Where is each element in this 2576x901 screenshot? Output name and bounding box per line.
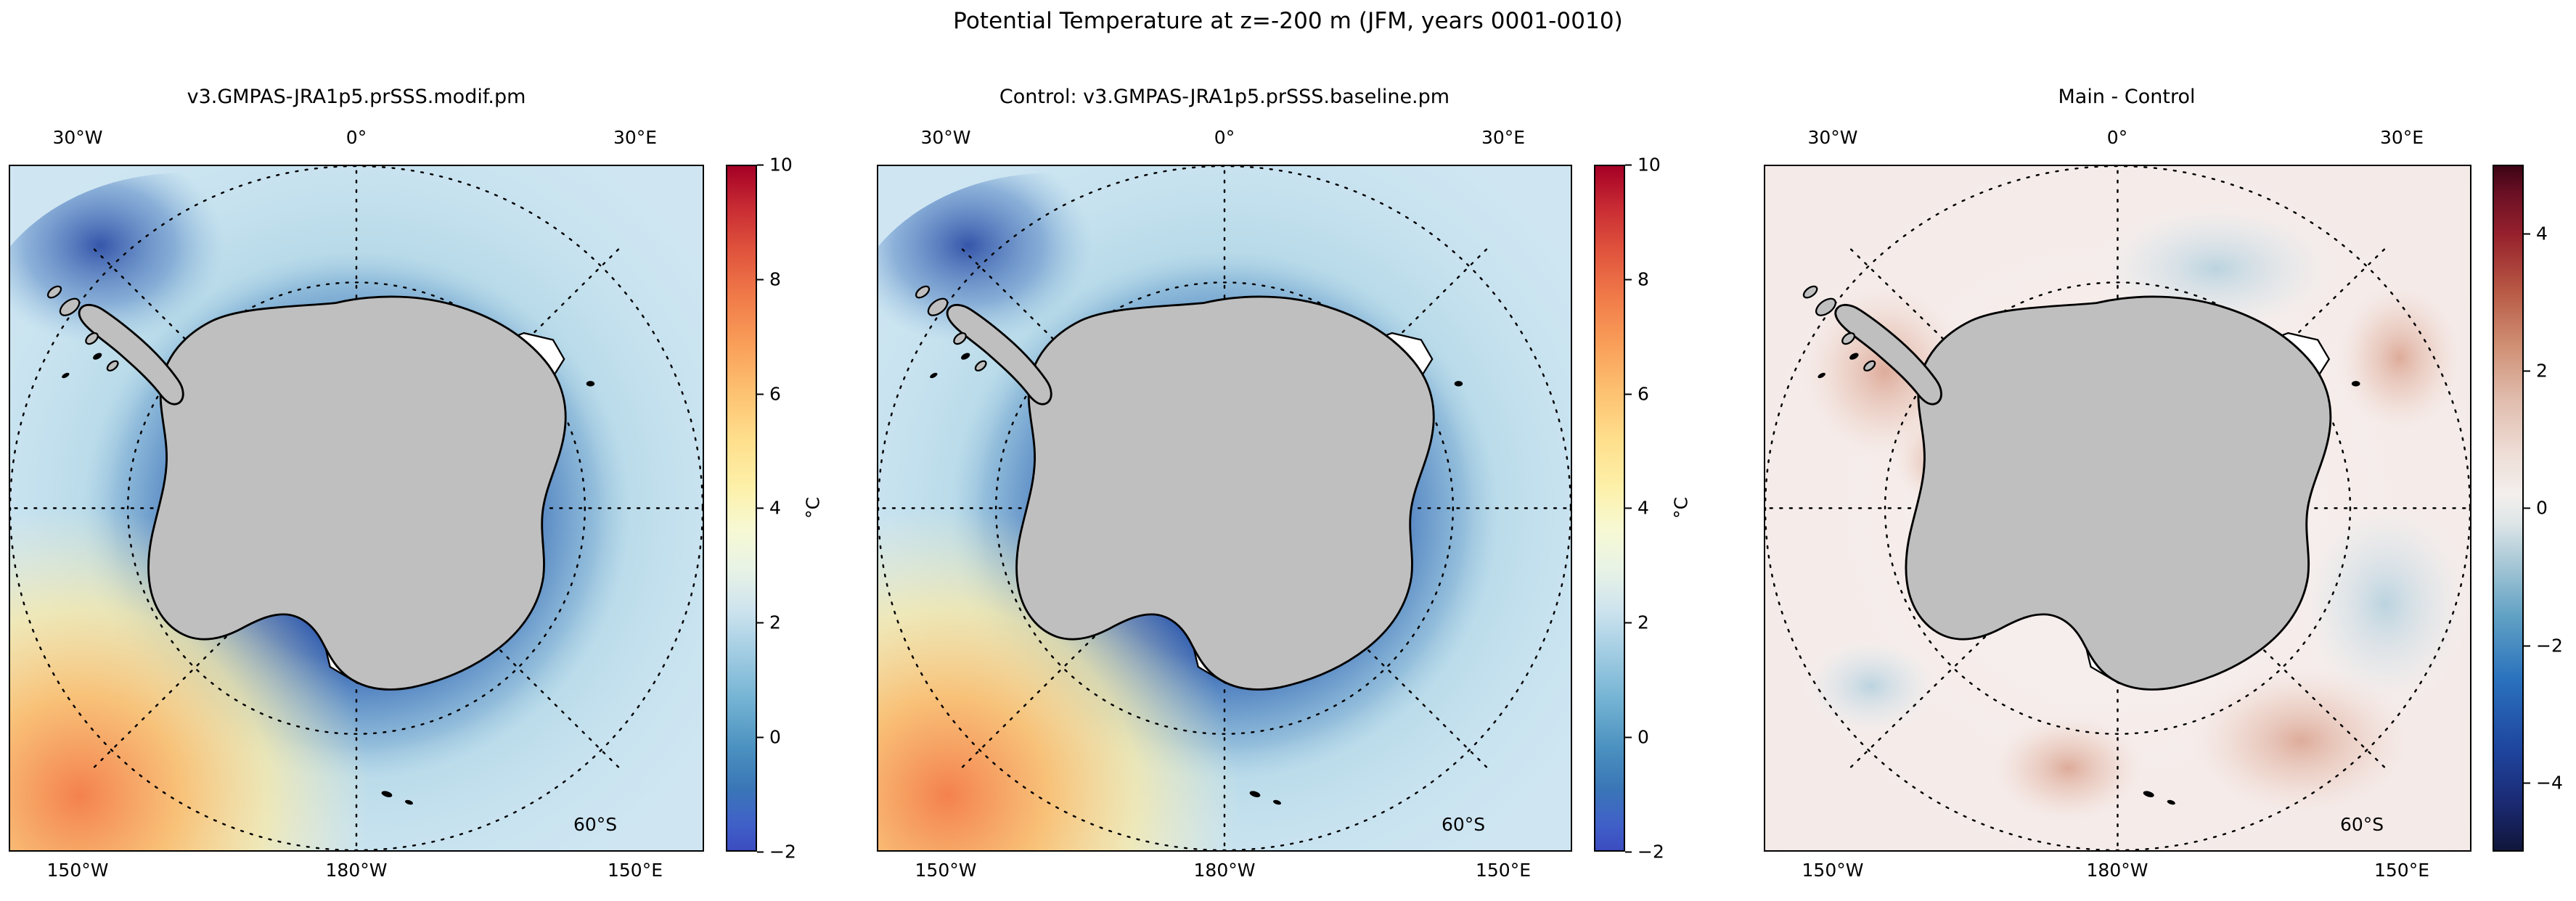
cbar-tick-main-0: 10 [757, 155, 793, 176]
tick-label: 6 [769, 384, 781, 405]
cbar-tick-control-1: 8 [1625, 269, 1649, 290]
antarctica-landmass [1906, 297, 2331, 690]
map-svg-control [878, 166, 1571, 850]
lon-label-top-30e: 30°E [566, 127, 704, 148]
cbar-tick-control-6: −2 [1625, 842, 1664, 863]
cool-anomaly-patch [1804, 638, 1937, 734]
tick-label: 8 [1637, 269, 1649, 290]
tick-mark [1625, 507, 1632, 509]
tick-mark [1625, 851, 1632, 852]
colorbar-unit-label-control: °C [1671, 497, 1692, 519]
cbar-tick-main-2: 6 [757, 384, 781, 405]
lon-label-bottom-150e: 150°E [2333, 860, 2471, 881]
map-canvas-difference[interactable] [1764, 165, 2471, 852]
lon-label-bottom-180w: 180°W [1156, 860, 1293, 881]
antarctica-landmass [1016, 297, 1434, 690]
tick-label: 4 [2536, 223, 2548, 244]
tick-mark [1625, 393, 1632, 395]
tick-mark [757, 507, 764, 509]
tick-label: 10 [1637, 155, 1661, 176]
tick-mark [757, 736, 764, 738]
tick-label: 2 [769, 612, 781, 633]
tick-mark [757, 164, 764, 165]
lat-label-60s-main: 60°S [573, 814, 617, 835]
tick-label: 2 [1637, 612, 1649, 633]
panel-title-main: v3.GMPAS-JRA1p5.prSSS.modif.pm [0, 86, 713, 108]
tick-label: −2 [769, 842, 796, 863]
colorbar-gradient-control [1594, 165, 1625, 852]
tick-label: 4 [769, 498, 781, 519]
lon-label-top-0: 0° [2048, 127, 2186, 148]
panel-title-control: Control: v3.GMPAS-JRA1p5.prSSS.baseline.… [868, 86, 1581, 108]
tick-label: −2 [2536, 635, 2563, 657]
tick-mark [757, 851, 764, 852]
warm-anomaly-east-coast [2336, 282, 2463, 432]
tick-mark [1625, 279, 1632, 280]
tick-label: 0 [769, 727, 781, 748]
colorbar-unit-label-main: °C [803, 497, 824, 519]
tick-mark [1625, 164, 1632, 165]
lon-label-bottom-150w: 150°W [877, 860, 1015, 881]
lon-label-top-30e: 30°E [2333, 127, 2471, 148]
lon-label-top-30w: 30°W [1764, 127, 1902, 148]
tick-mark [757, 279, 764, 280]
lon-label-top-30w: 30°W [9, 127, 147, 148]
lon-label-bottom-150w: 150°W [1764, 860, 1902, 881]
colorbar-gradient-main [726, 165, 757, 852]
map-panel-main: v3.GMPAS-JRA1p5.prSSS.modif.pm 30°W 0° 3… [0, 0, 811, 901]
cbar-tick-diff-0: 4 [2524, 223, 2548, 244]
panel-title-difference: Main - Control [1764, 86, 2490, 108]
lon-label-bottom-150e: 150°E [1434, 860, 1572, 881]
cbar-tick-diff-4: −4 [2524, 773, 2563, 794]
colorbar-ticks-difference: 4 2 0 −2 −4 [2524, 165, 2576, 852]
map-panel-control: Control: v3.GMPAS-JRA1p5.prSSS.baseline.… [868, 0, 1680, 901]
cbar-tick-control-3: 4 [1625, 498, 1649, 519]
cbar-tick-control-0: 10 [1625, 155, 1661, 176]
cbar-tick-main-4: 2 [757, 612, 781, 633]
colorbar-gradient-difference [2493, 165, 2524, 852]
warm-anomaly-east-coast [2188, 665, 2414, 815]
tick-label: 0 [2536, 498, 2548, 519]
cbar-tick-control-2: 6 [1625, 384, 1649, 405]
lat-label-60s-control: 60°S [1442, 814, 1485, 835]
tick-mark [2524, 645, 2530, 646]
lon-label-top-0: 0° [287, 127, 425, 148]
map-panel-difference: Main - Control 30°W 0° 30°E [1745, 0, 2576, 901]
cbar-tick-main-3: 4 [757, 498, 781, 519]
lon-label-bottom-150e: 150°E [566, 860, 704, 881]
tick-label: 4 [1637, 498, 1649, 519]
tick-mark [1625, 736, 1632, 738]
cbar-tick-control-5: 0 [1625, 727, 1649, 748]
colorbar-ticks-control: 10 8 6 4 2 0 −2 [1625, 165, 1712, 852]
tick-mark [2524, 507, 2530, 509]
tick-mark [2524, 370, 2530, 371]
cbar-tick-main-6: −2 [757, 842, 796, 863]
tick-mark [757, 622, 764, 623]
tick-label: 0 [1637, 727, 1649, 748]
lon-label-top-30e: 30°E [1434, 127, 1572, 148]
cbar-tick-diff-3: −2 [2524, 635, 2563, 657]
tick-label: −4 [2536, 773, 2563, 794]
tick-label: −2 [1637, 842, 1664, 863]
colorbar-ticks-main: 10 8 6 4 2 0 −2 [757, 165, 844, 852]
cbar-tick-control-4: 2 [1625, 612, 1649, 633]
tick-mark [2524, 782, 2530, 783]
lon-label-bottom-180w: 180°W [287, 860, 425, 881]
cbar-tick-main-5: 0 [757, 727, 781, 748]
map-canvas-control[interactable] [877, 165, 1572, 852]
tick-label: 8 [769, 269, 781, 290]
lat-label-60s-difference: 60°S [2340, 814, 2384, 835]
cbar-tick-diff-1: 2 [2524, 361, 2548, 382]
lon-label-bottom-150w: 150°W [9, 860, 147, 881]
cbar-tick-main-1: 8 [757, 269, 781, 290]
map-canvas-main[interactable] [9, 165, 704, 852]
warm-anomaly-east-coast [1991, 713, 2146, 823]
tick-label: 10 [769, 155, 793, 176]
tick-mark [1625, 622, 1632, 623]
tick-mark [2524, 233, 2530, 234]
map-svg-difference [1765, 166, 2470, 850]
lon-label-bottom-180w: 180°W [2048, 860, 2186, 881]
lon-label-top-0: 0° [1156, 127, 1293, 148]
tick-label: 6 [1637, 384, 1649, 405]
lon-label-top-30w: 30°W [877, 127, 1015, 148]
tick-label: 2 [2536, 361, 2548, 382]
antarctica-landmass [148, 297, 565, 690]
map-svg-main [10, 166, 703, 850]
cbar-tick-diff-2: 0 [2524, 498, 2548, 519]
tick-mark [757, 393, 764, 395]
